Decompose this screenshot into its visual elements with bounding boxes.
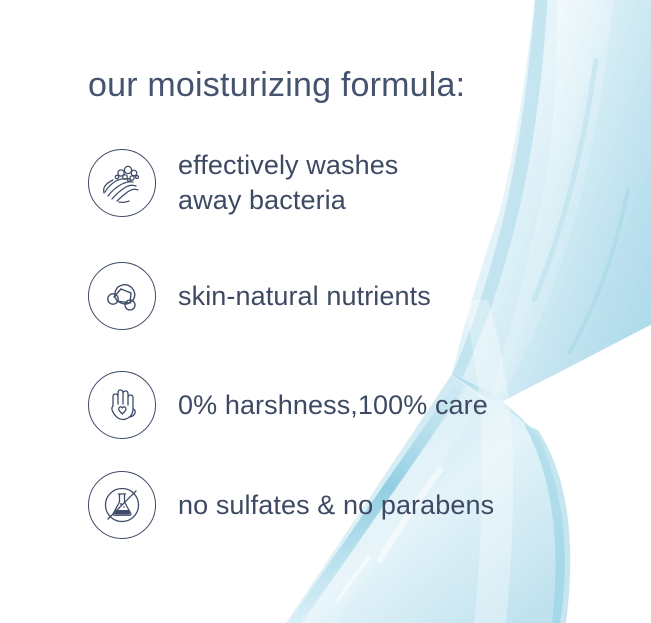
washing-hands-with-bubbles-icon — [88, 149, 156, 217]
list-item: 0% harshness,100% care — [88, 371, 488, 439]
list-item: effectively washes away bacteria — [88, 148, 398, 217]
hand-with-heart-icon — [88, 371, 156, 439]
list-item: no sulfates & no parabens — [88, 471, 494, 539]
promo-panel: our moisturizing formula: — [0, 0, 651, 623]
list-item: skin-natural nutrients — [88, 262, 431, 330]
molecule-icon — [88, 262, 156, 330]
list-item-label: 0% harshness,100% care — [178, 388, 488, 423]
page-title: our moisturizing formula: — [88, 66, 465, 105]
no-flask-icon — [88, 471, 156, 539]
list-item-label: effectively washes away bacteria — [178, 148, 398, 217]
list-item-label: skin-natural nutrients — [178, 279, 431, 314]
list-item-label: no sulfates & no parabens — [178, 488, 494, 523]
